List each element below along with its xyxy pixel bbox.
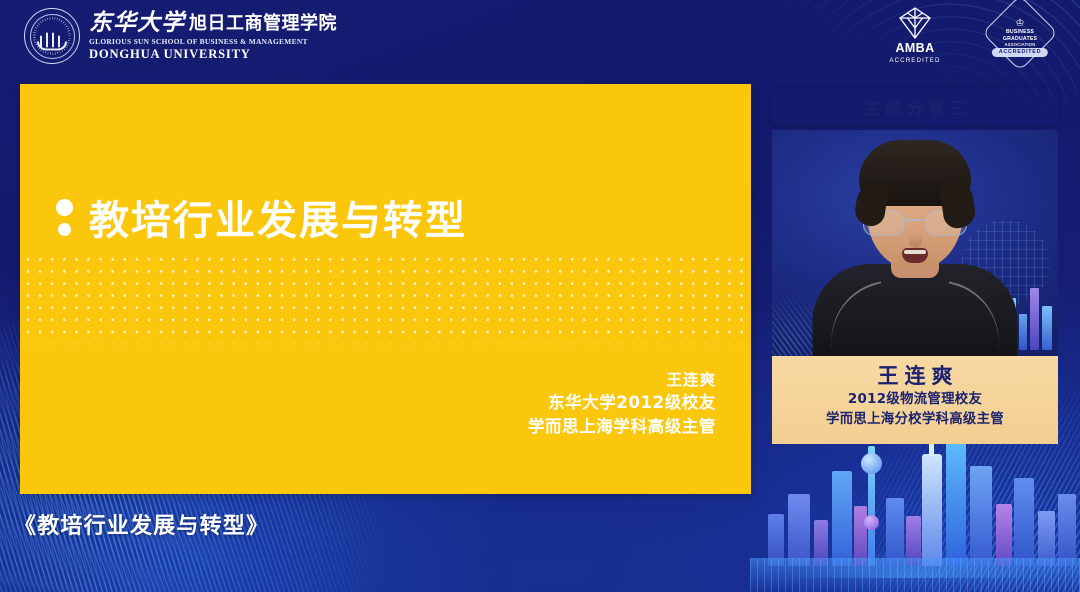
amba-diamond-icon [896,6,934,40]
speaker-info-affiliation: 2012级物流管理校友 [772,390,1058,410]
skyline-building [1058,494,1076,566]
bga-line3: ASSOCIATION [1003,42,1037,47]
video-skyline-building [1019,314,1027,350]
bga-line2: GRADUATES [1003,35,1037,42]
presentation-slide[interactable]: 教培行业发展与转型 王连爽 东华大学2012级校友 学而思上海学科高级主管 [20,84,751,494]
speaker-video-feed[interactable] [772,130,1058,356]
logo-wordmark: 东华大学 旭日工商管理学院 GLORIOUS SUN SCHOOL OF BUS… [89,11,337,61]
logo-school-en: GLORIOUS SUN SCHOOL OF BUSINESS & MANAGE… [89,38,337,45]
speaker-info-card: 王连爽 2012级物流管理校友 学而思上海分校学科高级主管 [772,356,1058,444]
skyline-building [832,471,852,566]
amba-subtitle: ACCREDITED [876,57,954,64]
slide-speaker-name: 王连爽 [528,369,716,391]
skyline-ground-grid [750,558,1080,592]
amba-accreditation-logo: AMBA ACCREDITED [876,6,954,64]
logo-school-cn: 旭日工商管理学院 [189,15,337,34]
topic-banner: 主题分享三 [772,88,1058,125]
video-skyline-building [1042,306,1052,350]
skyline-shanghai-tower [946,426,966,566]
bga-crown-diamond-icon: ♔ BUSINESS GRADUATES ASSOCIATION [982,0,1058,71]
logo-university-cn: 东华大学 [89,11,185,34]
bga-accreditation-logo: ♔ BUSINESS GRADUATES ASSOCIATION ACCREDI… [984,6,1056,60]
skyline-jinmao-tower [922,454,942,566]
skyline-building [854,506,867,566]
donghua-university-logo: 东华大学 旭日工商管理学院 GLORIOUS SUN SCHOOL OF BUS… [24,8,337,64]
skyline-pearl-sphere-upper [861,453,882,474]
crown-icon: ♔ [1003,19,1037,29]
bga-accredited-badge: ACCREDITED [992,48,1048,57]
skyline-world-financial-center [970,466,992,566]
skyline-building [886,498,904,566]
amba-title: AMBA [876,42,954,55]
speaker-nose [909,234,922,248]
speaker-info-title: 学而思上海分校学科高级主管 [772,410,1058,430]
skyline-pearl-sphere-lower [864,515,879,530]
slide-title-row: 教培行业发展与转型 [56,188,467,246]
topic-banner-label: 主题分享三 [859,95,972,119]
accreditation-logos: AMBA ACCREDITED ♔ BUSINESS GRADUATES ASS… [876,6,1056,64]
bga-line1: BUSINESS [1003,29,1037,36]
speaker-person [810,166,1020,356]
slide-speaker-affiliation: 东华大学2012级校友 [528,391,716,414]
skyline-building [788,494,810,566]
speaker-info-name: 王连爽 [772,362,1058,390]
presentation-stage: 东华大学 旭日工商管理学院 GLORIOUS SUN SCHOOL OF BUS… [0,0,1080,592]
logo-university-en: DONGHUA UNIVERSITY [89,48,337,61]
speaker-mouth [902,248,928,263]
speaker-hair [859,140,971,206]
slide-speaker-title: 学而思上海学科高级主管 [528,415,716,438]
skyline-building [1014,478,1034,566]
slide-speaker-info: 王连爽 东华大学2012级校友 学而思上海学科高级主管 [528,369,716,438]
slide-title: 教培行业发展与转型 [89,188,467,246]
session-caption: 《教培行业发展与转型》 [14,508,269,540]
two-dots-icon [56,199,73,236]
donghua-university-seal-icon [24,8,80,64]
seal-emblem [39,25,65,47]
skyline-building [996,504,1012,566]
